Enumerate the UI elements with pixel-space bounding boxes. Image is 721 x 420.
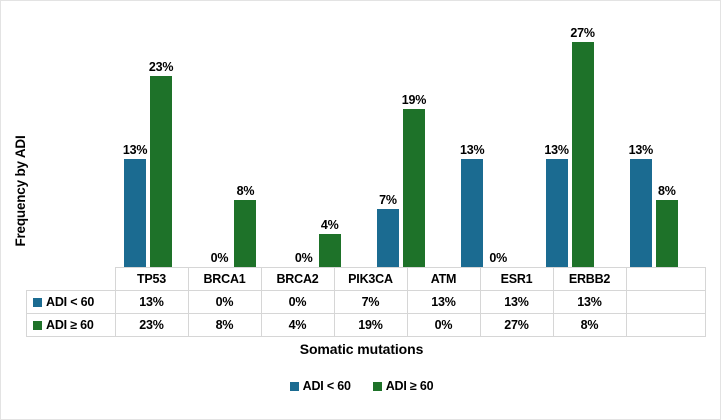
table-cell	[626, 291, 705, 314]
bar-group-tp53: 13%23%	[106, 9, 190, 267]
table-header-brca1: BRCA1	[188, 268, 261, 291]
bar-brca2-green[interactable]	[319, 234, 341, 267]
table-cell: 23%	[115, 314, 188, 337]
bar-brca1-green[interactable]	[234, 200, 256, 267]
legend-label: ADI ≥ 60	[386, 379, 434, 393]
bar-esr1-blue[interactable]	[546, 159, 568, 267]
bar-tp53-blue[interactable]	[124, 159, 146, 267]
series-swatch-green-icon	[33, 321, 42, 330]
legend-item-blue[interactable]: ADI < 60	[290, 379, 351, 393]
bar-slot-atm-blue: 13%	[461, 9, 483, 267]
legend-label: ADI < 60	[303, 379, 351, 393]
table-row-label: ADI < 60	[46, 295, 94, 309]
legend-swatch-blue-icon	[290, 382, 299, 391]
table-header-brca2: BRCA2	[261, 268, 334, 291]
table-cell: 19%	[334, 314, 407, 337]
table-header-blank	[626, 268, 705, 291]
bar-value-label-brca2-green: 4%	[321, 218, 339, 232]
chart-legend: ADI < 60ADI ≥ 60	[1, 379, 721, 393]
table-cell: 13%	[407, 291, 480, 314]
table-header-esr1: ESR1	[480, 268, 553, 291]
y-axis-title: Frequency by ADI	[13, 111, 33, 271]
bar-value-label-atm-green: 0%	[489, 251, 507, 265]
table-header-erbb2: ERBB2	[553, 268, 626, 291]
bar-slot-erbb2-blue: 13%	[630, 9, 652, 267]
bar-value-label-erbb2-blue: 13%	[629, 143, 653, 157]
bar-group-esr1: 13%27%	[527, 9, 611, 267]
table-cell: 13%	[115, 291, 188, 314]
bar-slot-esr1-blue: 13%	[546, 9, 568, 267]
x-axis-title: Somatic mutations	[1, 341, 721, 357]
bar-value-label-pik3ca-blue: 7%	[379, 193, 397, 207]
series-swatch-blue-icon	[33, 298, 42, 307]
bar-value-label-brca1-green: 8%	[237, 184, 255, 198]
bar-value-label-brca1-blue: 0%	[211, 251, 229, 265]
legend-swatch-green-icon	[373, 382, 382, 391]
bar-slot-tp53-green: 23%	[150, 9, 172, 267]
bar-slot-brca2-green: 4%	[319, 9, 341, 267]
table-row-label: ADI ≥ 60	[46, 318, 94, 332]
table-cell: 13%	[480, 291, 553, 314]
bar-group-erbb2: 13%8%	[612, 9, 696, 267]
bar-slot-brca1-blue: 0%	[208, 9, 230, 267]
table-corner-cell	[27, 268, 116, 291]
bar-pik3ca-blue[interactable]	[377, 209, 399, 267]
bar-slot-esr1-green: 27%	[572, 9, 594, 267]
bar-group-pik3ca: 7%19%	[359, 9, 443, 267]
bar-value-label-esr1-green: 27%	[570, 26, 594, 40]
bar-slot-brca1-green: 8%	[234, 9, 256, 267]
bar-value-label-pik3ca-green: 19%	[402, 93, 426, 107]
bar-erbb2-green[interactable]	[656, 200, 678, 267]
table-cell: 0%	[407, 314, 480, 337]
table-cell: 8%	[553, 314, 626, 337]
table-cell: 0%	[261, 291, 334, 314]
table-cell	[626, 314, 705, 337]
table-header-row: TP53BRCA1BRCA2PIK3CAATMESR1ERBB2	[27, 268, 706, 291]
data-table-body: TP53BRCA1BRCA2PIK3CAATMESR1ERBB2ADI < 60…	[27, 268, 706, 337]
table-cell: 0%	[188, 291, 261, 314]
table-cell: 4%	[261, 314, 334, 337]
bar-value-label-brca2-blue: 0%	[295, 251, 313, 265]
bar-pik3ca-green[interactable]	[403, 109, 425, 267]
bar-slot-pik3ca-blue: 7%	[377, 9, 399, 267]
bar-value-label-atm-blue: 13%	[460, 143, 484, 157]
plot-area: 13%23%0%8%0%4%7%19%13%0%13%27%13%8%	[106, 9, 696, 267]
table-row: ADI ≥ 6023%8%4%19%0%27%8%	[27, 314, 706, 337]
bar-slot-brca2-blue: 0%	[293, 9, 315, 267]
bar-value-label-erbb2-green: 8%	[658, 184, 676, 198]
legend-item-green[interactable]: ADI ≥ 60	[373, 379, 434, 393]
table-header-pik3ca: PIK3CA	[334, 268, 407, 291]
table-row: ADI < 6013%0%0%7%13%13%13%	[27, 291, 706, 314]
table-cell: 13%	[553, 291, 626, 314]
data-table: TP53BRCA1BRCA2PIK3CAATMESR1ERBB2ADI < 60…	[26, 267, 706, 337]
bar-group-brca2: 0%4%	[275, 9, 359, 267]
table-header-tp53: TP53	[115, 268, 188, 291]
bar-slot-erbb2-green: 8%	[656, 9, 678, 267]
bar-atm-blue[interactable]	[461, 159, 483, 267]
table-cell: 8%	[188, 314, 261, 337]
bar-slot-pik3ca-green: 19%	[403, 9, 425, 267]
table-row-header-adi-gte-60: ADI ≥ 60	[27, 314, 116, 337]
bar-slot-atm-green: 0%	[487, 9, 509, 267]
bar-tp53-green[interactable]	[150, 76, 172, 267]
bar-value-label-tp53-blue: 13%	[123, 143, 147, 157]
table-cell: 7%	[334, 291, 407, 314]
table-header-atm: ATM	[407, 268, 480, 291]
table-cell: 27%	[480, 314, 553, 337]
bar-value-label-tp53-green: 23%	[149, 60, 173, 74]
table-row-header-adi-lt-60: ADI < 60	[27, 291, 116, 314]
bar-slot-tp53-blue: 13%	[124, 9, 146, 267]
bar-chart-figure: Frequency by ADI 13%23%0%8%0%4%7%19%13%0…	[0, 0, 721, 420]
bar-value-label-esr1-blue: 13%	[544, 143, 568, 157]
bar-erbb2-blue[interactable]	[630, 159, 652, 267]
bar-group-brca1: 0%8%	[190, 9, 274, 267]
bar-esr1-green[interactable]	[572, 42, 594, 267]
bar-group-atm: 13%0%	[443, 9, 527, 267]
